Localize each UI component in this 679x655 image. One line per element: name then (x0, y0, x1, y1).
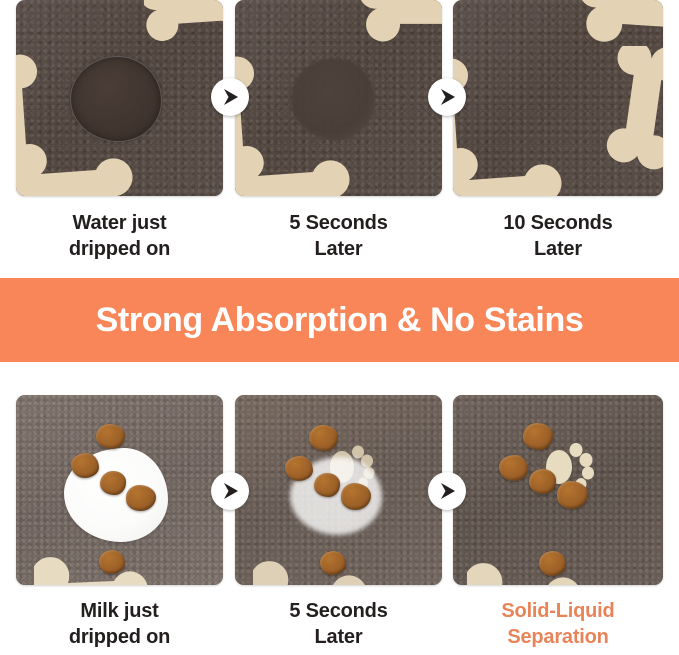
caption-water-just-dripped: Water just dripped on (16, 210, 223, 263)
caption-line-1: Solid-Liquid (453, 598, 663, 624)
arrow-right-icon (211, 472, 249, 510)
caption-water-10-seconds: 10 Seconds Later (453, 210, 663, 263)
bone-graphic (453, 146, 587, 196)
kibble-piece (314, 473, 340, 497)
bone-graphic (16, 140, 158, 196)
panel-water-5-seconds (235, 0, 442, 196)
kibble-piece (100, 471, 126, 495)
caption-milk-solid-liquid-separation: Solid-Liquid Separation (453, 598, 663, 651)
caption-line-2: Separation (453, 624, 663, 650)
caption-line-1: Milk just (16, 598, 223, 624)
kibble-piece (99, 550, 125, 574)
caption-line-2: Later (453, 236, 663, 262)
bone-graphic (253, 559, 383, 585)
arrow-right-icon (428, 472, 466, 510)
caption-line-1: 5 Seconds (235, 598, 442, 624)
kibble-piece (96, 424, 125, 449)
caption-line-1: 5 Seconds (235, 210, 442, 236)
panel-water-10-seconds (453, 0, 663, 196)
caption-line-2: Later (235, 236, 442, 262)
panel-milk-solid-liquid-separation (453, 395, 663, 585)
caption-water-5-seconds: 5 Seconds Later (235, 210, 442, 263)
water-spot (291, 58, 375, 140)
promo-banner: Strong Absorption & No Stains (0, 278, 679, 362)
caption-line-2: dripped on (16, 624, 223, 650)
water-spot (70, 56, 162, 142)
kibble-piece (320, 551, 346, 575)
panel-milk-5-seconds (235, 395, 442, 585)
kibble-piece (285, 456, 313, 481)
caption-milk-just-dripped: Milk just dripped on (16, 598, 223, 651)
promo-banner-text: Strong Absorption & No Stains (96, 301, 584, 340)
caption-line-2: Later (235, 624, 442, 650)
kibble-piece (539, 551, 566, 576)
kibble-piece (523, 423, 553, 450)
bone-graphic (467, 561, 597, 585)
caption-line-1: Water just (16, 210, 223, 236)
caption-line-1: 10 Seconds (453, 210, 663, 236)
bone-graphic (235, 142, 375, 196)
bone-graphic (361, 0, 442, 72)
arrow-right-icon (211, 78, 249, 116)
kibble-piece (71, 453, 99, 478)
caption-milk-5-seconds: 5 Seconds Later (235, 598, 442, 651)
caption-line-2: dripped on (16, 236, 223, 262)
panel-milk-just-dripped (16, 395, 223, 585)
panel-water-just-dripped (16, 0, 223, 196)
kibble-piece (499, 455, 528, 481)
bone-graphic (605, 46, 663, 196)
kibble-piece (309, 425, 338, 451)
arrow-right-icon (428, 78, 466, 116)
kibble-piece (529, 469, 556, 494)
bone-graphic (144, 0, 223, 64)
